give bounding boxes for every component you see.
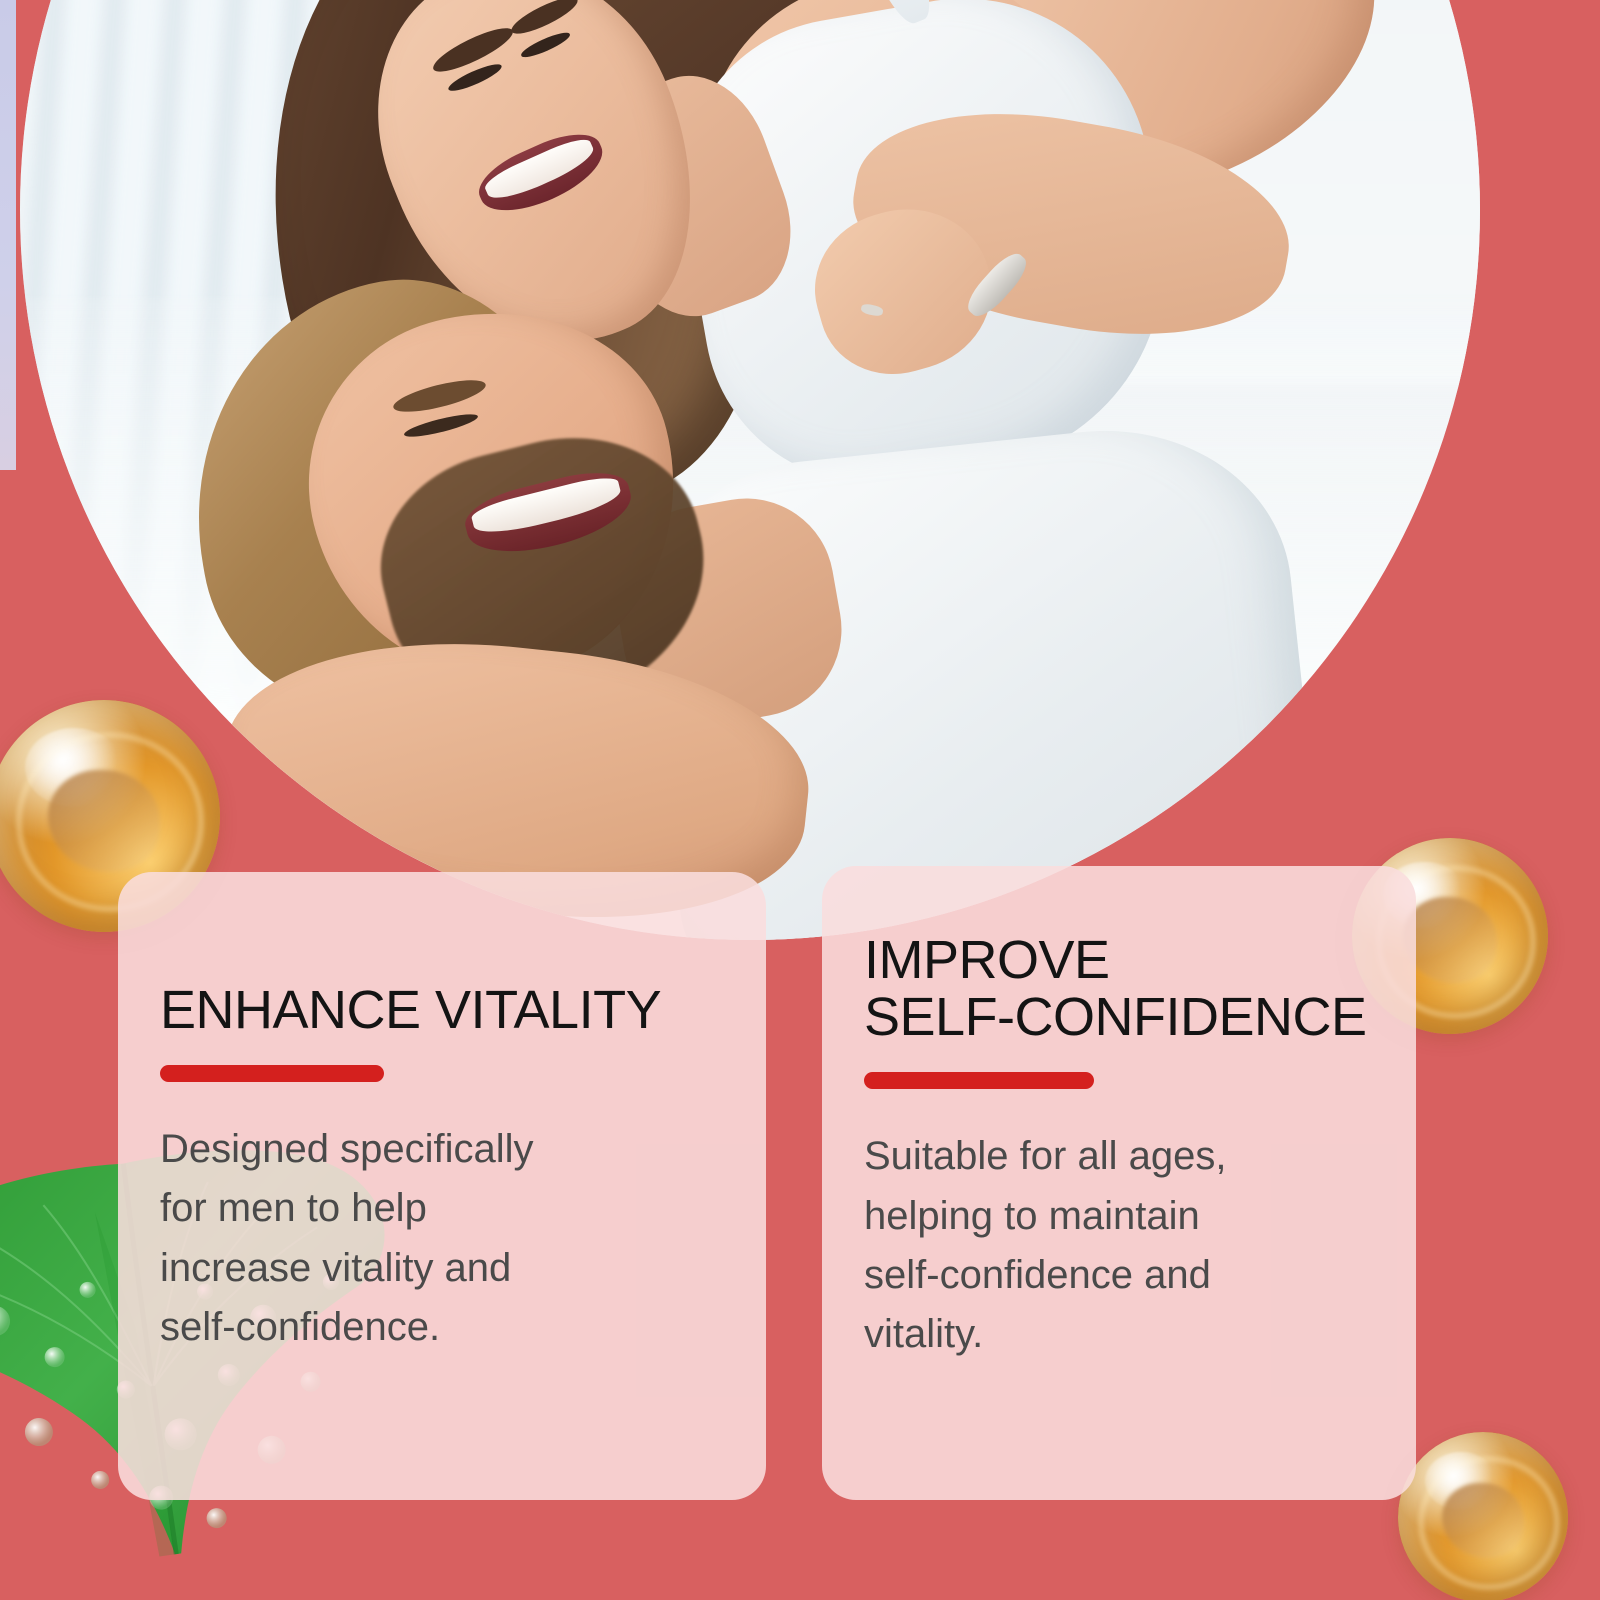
amber-ginseng-sphere-icon (1398, 1432, 1568, 1600)
sphere-highlight (25, 728, 122, 807)
sphere-highlight (1425, 1452, 1496, 1510)
card-title: IMPROVE SELF-CONFIDENCE (864, 866, 1374, 1046)
title-accent-bar (160, 1065, 384, 1082)
feature-card-improve-self-confidence: IMPROVE SELF-CONFIDENCE Suitable for all… (822, 866, 1416, 1500)
feature-card-enhance-vitality: ENHANCE VITALITY Designed specifically f… (118, 872, 766, 1500)
hero-photo (20, 0, 1480, 940)
promo-banner: ENHANCE VITALITY Designed specifically f… (0, 0, 1600, 1600)
left-edge-strip (0, 0, 16, 470)
card-title: ENHANCE VITALITY (160, 872, 724, 1039)
hero-photo-circle (20, 0, 1480, 940)
card-body-text: Designed specifically for men to help in… (160, 1082, 724, 1357)
card-body-text: Suitable for all ages, helping to mainta… (864, 1089, 1374, 1364)
title-accent-bar (864, 1072, 1094, 1089)
